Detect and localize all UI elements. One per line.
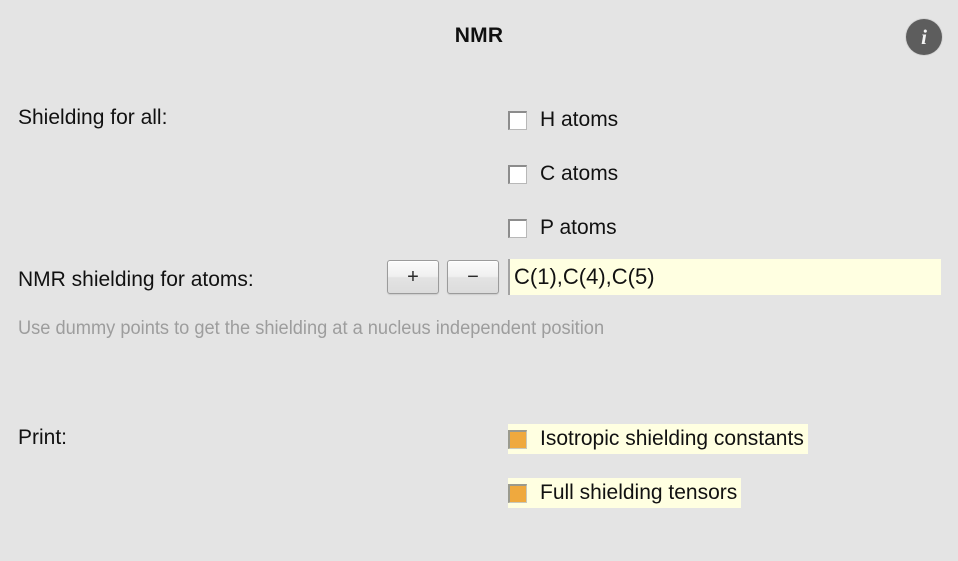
checkbox-label-c-atoms: C atoms <box>540 162 618 186</box>
checkbox-p-atoms[interactable] <box>508 219 527 238</box>
shielding-for-all-label: Shielding for all: <box>18 98 167 138</box>
atoms-input[interactable] <box>508 259 941 295</box>
dummy-points-hint: Use dummy points to get the shielding at… <box>18 318 604 340</box>
panel-header: NMR i <box>0 0 958 76</box>
atoms-controls: + − <box>0 260 958 302</box>
checkbox-row-c-atoms[interactable]: C atoms <box>508 157 618 191</box>
checkbox-isotropic-shielding-constants[interactable] <box>508 430 527 449</box>
checkbox-h-atoms[interactable] <box>508 111 527 130</box>
checkbox-row-h-atoms[interactable]: H atoms <box>508 103 618 137</box>
print-label: Print: <box>18 418 67 458</box>
page-title: NMR <box>0 24 958 48</box>
checkbox-row-p-atoms[interactable]: P atoms <box>508 211 617 245</box>
checkbox-full-shielding-tensors[interactable] <box>508 484 527 503</box>
info-icon[interactable]: i <box>906 19 942 55</box>
checkbox-label-isotropic-shielding-constants: Isotropic shielding constants <box>540 427 804 451</box>
info-icon-glyph: i <box>906 19 942 55</box>
print-row: Print: <box>0 418 958 458</box>
checkbox-c-atoms[interactable] <box>508 165 527 184</box>
add-atom-button[interactable]: + <box>387 260 439 294</box>
checkbox-label-full-shielding-tensors: Full shielding tensors <box>540 481 737 505</box>
shielding-for-all-row: Shielding for all: <box>0 98 958 138</box>
checkbox-label-p-atoms: P atoms <box>540 216 617 240</box>
checkbox-row-isotropic-shielding-constants[interactable]: Isotropic shielding constants <box>508 424 808 454</box>
checkbox-label-h-atoms: H atoms <box>540 108 618 132</box>
checkbox-row-full-shielding-tensors[interactable]: Full shielding tensors <box>508 478 741 508</box>
remove-atom-button[interactable]: − <box>447 260 499 294</box>
